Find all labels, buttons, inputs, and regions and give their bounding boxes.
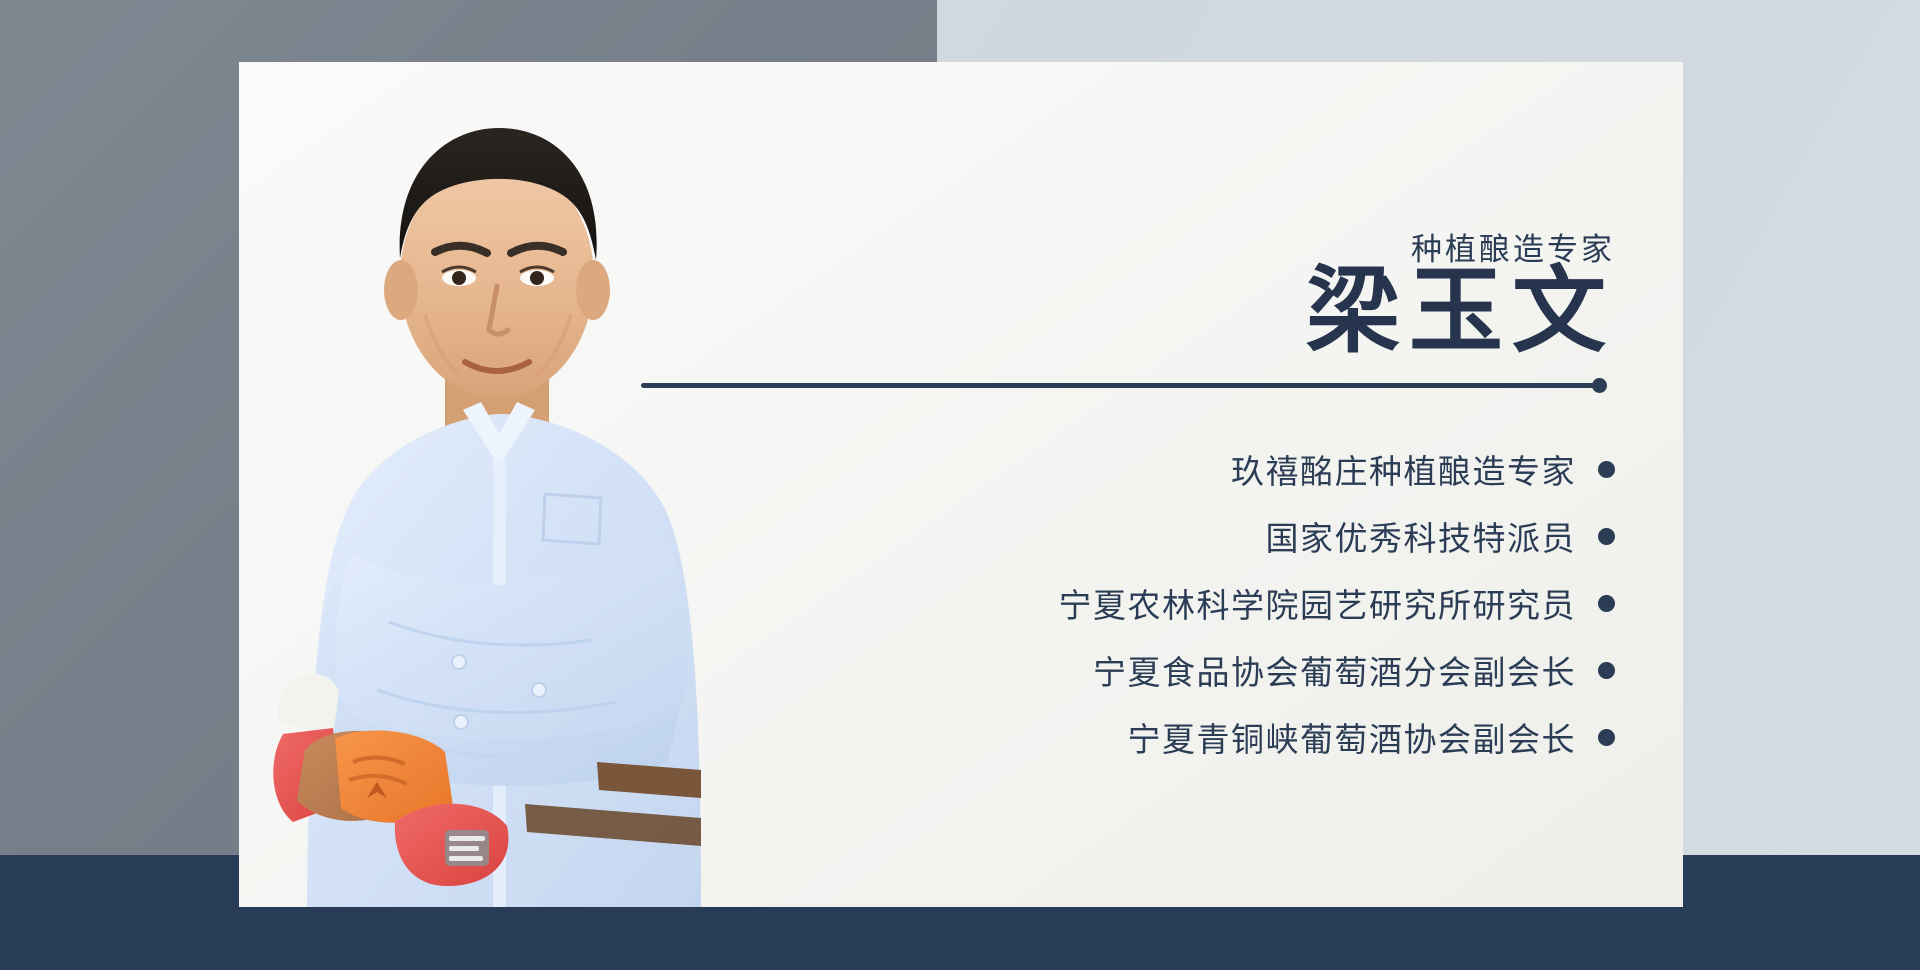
credential-label: 宁夏青铜峡葡萄酒协会副会长 [1128, 713, 1577, 761]
credential-label: 宁夏食品协会葡萄酒分会副会长 [1093, 646, 1576, 694]
credential-label: 宁夏农林科学院园艺研究所研究员 [1059, 579, 1577, 627]
list-item: 玖禧酩庄种植酿造专家 [239, 442, 1615, 496]
profile-name: 梁玉文 [239, 260, 1615, 365]
bullet-dot-icon [1598, 461, 1615, 478]
profile-card: 种植酿造专家 梁玉文 玖禧酩庄种植酿造专家 国家优秀科技特派员 宁夏农林科学院园… [239, 62, 1683, 907]
bullet-dot-icon [1598, 595, 1615, 612]
bullet-dot-icon [1598, 729, 1615, 746]
list-item: 宁夏青铜峡葡萄酒协会副会长 [239, 710, 1615, 764]
credentials-list: 玖禧酩庄种植酿造专家 国家优秀科技特派员 宁夏农林科学院园艺研究所研究员 宁夏食… [239, 442, 1615, 777]
bullet-dot-icon [1598, 528, 1615, 545]
list-item: 宁夏农林科学院园艺研究所研究员 [239, 576, 1615, 630]
credential-label: 国家优秀科技特派员 [1266, 512, 1577, 560]
profile-card-banner: 种植酿造专家 梁玉文 玖禧酩庄种植酿造专家 国家优秀科技特派员 宁夏农林科学院园… [0, 0, 1920, 970]
credential-label: 玖禧酩庄种植酿造专家 [1231, 445, 1576, 493]
list-item: 国家优秀科技特派员 [239, 509, 1615, 563]
divider-line [641, 383, 1599, 388]
divider-end-dot-icon [1592, 378, 1607, 393]
bullet-dot-icon [1598, 662, 1615, 679]
list-item: 宁夏食品协会葡萄酒分会副会长 [239, 643, 1615, 697]
